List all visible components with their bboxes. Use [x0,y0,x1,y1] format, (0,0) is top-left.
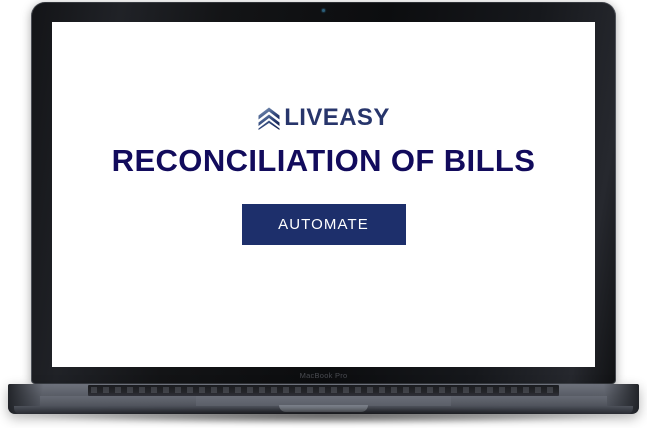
brand-name: LIVEASY [284,106,390,130]
automate-button[interactable]: AUTOMATE [242,204,406,245]
laptop-keyboard [88,385,559,396]
brand-lockup: LIVEASY [257,106,390,130]
screen-viewport: LIVEASY RECONCILIATION OF BILLS AUTOMATE [52,22,595,367]
keyboard-keys [91,387,556,393]
laptop-drop-shadow [24,410,624,424]
liveasy-chevron-logo-icon [257,106,281,130]
camera-dot-icon [322,9,325,12]
page-headline: RECONCILIATION OF BILLS [112,144,536,178]
mockup-stage: LIVEASY RECONCILIATION OF BILLS AUTOMATE… [0,0,647,428]
laptop-mockup: LIVEASY RECONCILIATION OF BILLS AUTOMATE… [0,0,647,428]
screen-content: LIVEASY RECONCILIATION OF BILLS AUTOMATE [52,106,595,245]
device-model-label: MacBook Pro [0,371,647,380]
